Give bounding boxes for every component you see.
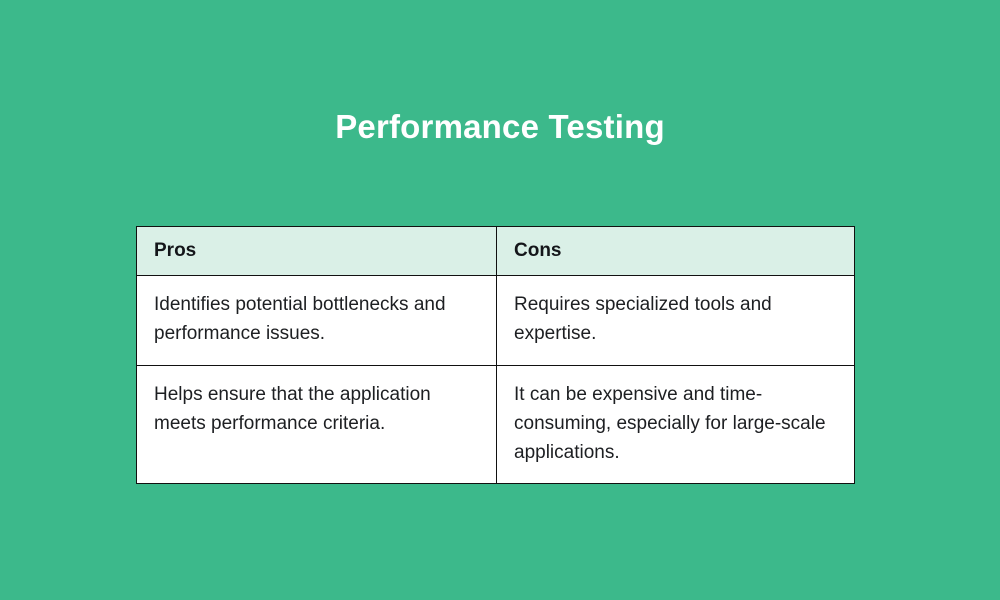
table-body: Identifies potential bottlenecks and per…	[137, 276, 855, 484]
table-header-row: Pros Cons	[137, 227, 855, 276]
table-row: Helps ensure that the application meets …	[137, 366, 855, 484]
table-header: Pros Cons	[137, 227, 855, 276]
cell-cons-2: It can be expensive and time-consuming, …	[497, 366, 855, 484]
cell-pros-1: Identifies potential bottlenecks and per…	[137, 276, 497, 366]
cell-cons-1: Requires specialized tools and expertise…	[497, 276, 855, 366]
page-title: Performance Testing	[0, 106, 1000, 148]
cell-pros-2: Helps ensure that the application meets …	[137, 366, 497, 484]
column-header-cons: Cons	[497, 227, 855, 276]
column-header-pros: Pros	[137, 227, 497, 276]
slide-canvas: Performance Testing Pros Cons Identifies…	[0, 0, 1000, 600]
pros-cons-table: Pros Cons Identifies potential bottlenec…	[136, 226, 855, 484]
table-row: Identifies potential bottlenecks and per…	[137, 276, 855, 366]
